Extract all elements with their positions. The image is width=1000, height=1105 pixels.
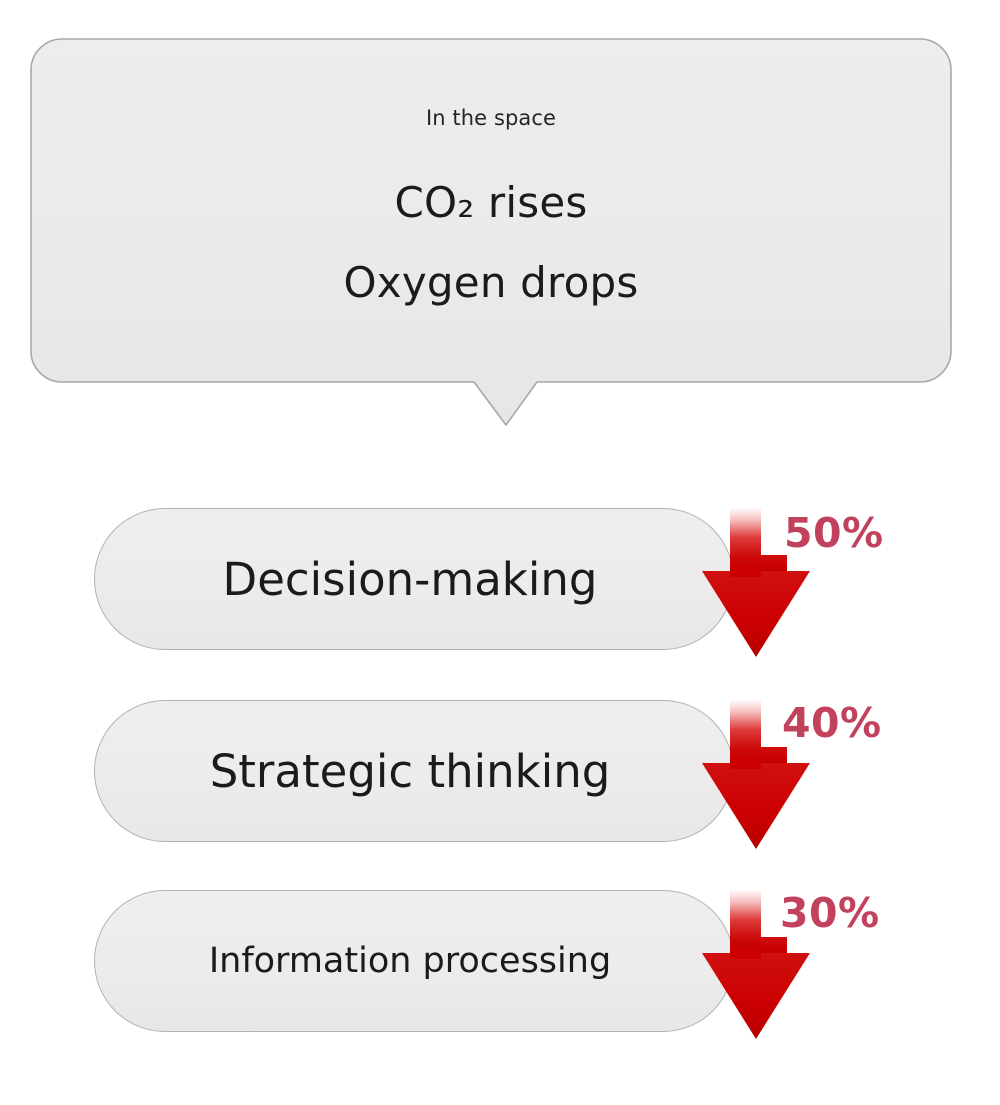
impact-row-strategic-thinking: Strategic thinking [0, 697, 1000, 857]
pill-label-decision-making: Decision-making [223, 557, 606, 602]
percent-label-strategic-thinking: 40% [782, 703, 882, 744]
infographic-canvas: In the space CO₂ rises Oxygen drops Deci… [0, 0, 1000, 1105]
pill-label-strategic-thinking: Strategic thinking [210, 749, 619, 794]
callout-line-oxygen-drops: Oxygen drops [344, 262, 639, 304]
pill-label-information-processing: Information processing [209, 944, 619, 979]
pill-strategic-thinking[interactable]: Strategic thinking [94, 700, 734, 842]
pill-information-processing[interactable]: Information processing [94, 890, 734, 1032]
speech-bubble-text: In the space CO₂ rises Oxygen drops [30, 38, 952, 383]
callout-line-co2-rises: CO₂ rises [395, 182, 588, 224]
impact-row-information-processing: Information processing [0, 887, 1000, 1047]
percent-label-decision-making: 50% [784, 513, 884, 554]
pill-decision-making[interactable]: Decision-making [94, 508, 734, 650]
speech-bubble-callout: In the space CO₂ rises Oxygen drops [30, 38, 952, 428]
percent-label-information-processing: 30% [780, 893, 880, 934]
impact-row-decision-making: Decision-making [0, 505, 1000, 665]
callout-line-in-the-space: In the space [426, 108, 556, 129]
